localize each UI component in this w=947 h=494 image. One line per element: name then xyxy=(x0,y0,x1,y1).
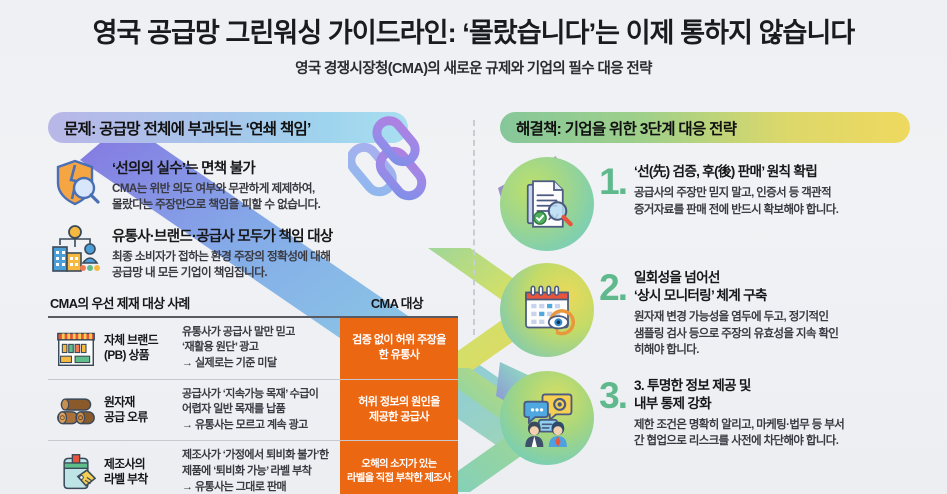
supply-chain-company-people-icon xyxy=(48,223,102,277)
table-row-description: 공급사가 ‘지속가능 목재’ 수급이 어렵자 일반 목재를 납품 → 유통사는 … xyxy=(182,380,340,441)
problem-bullet-1-body: CMA는 위반 의도 여부와 무관하게 제제하여, 몰랐다는 주장만으로 책임을… xyxy=(112,181,320,214)
page-subtitle: 영국 경쟁시장청(CMA)의 새로운 규제와 기업의 필수 대응 전략 xyxy=(0,57,947,78)
table-row-category: 자체 브랜드 (PB) 상품 xyxy=(104,318,182,379)
solution-step-3: 3. 3. 투명한 정보 제공 및 내부 통제 강화 제한 조건은 명확히 알리… xyxy=(500,371,930,465)
cracked-shield-magnifier-icon xyxy=(48,155,102,209)
solution-step-2-body: 원자재 변경 가능성을 염두에 두고, 정기적인 샘플링 검사 등으로 주장의 … xyxy=(634,309,838,359)
table-row-category: 제조사의 라벨 부착 xyxy=(104,441,182,494)
sanction-cases-table: CMA의 우선 제재 대상 사례 CMA 대상 xyxy=(48,293,458,494)
solution-panel: 해결책: 기업을 위한 3단계 대응 전략 1. ‘선(先) 검증, 후( xyxy=(500,112,930,465)
table-col-target: CMA 대상 xyxy=(338,293,456,312)
people-chat-gear-icon xyxy=(500,371,594,465)
table-row-target-tag: 허위 정보의 원인을 제공한 공급사 xyxy=(340,380,458,441)
problem-bullet-2-title: 유통사·브랜드·공급사 모두가 책임 대상 xyxy=(112,229,332,245)
problem-bullet-2-body: 최종 소비자가 접하는 환경 주장의 정확성에 대해 공급망 내 모든 기업이 … xyxy=(112,249,332,282)
table-row: 제조사의 라벨 부착 제조사가 ‘가정에서 퇴비화 불가’한 제품에 ‘퇴비화 … xyxy=(48,441,458,494)
solution-step-2-number: 2. xyxy=(594,263,626,304)
solution-step-3-title: 3. 투명한 정보 제공 및 내부 통제 강화 xyxy=(634,377,844,413)
package-label-tag-icon xyxy=(48,441,104,494)
broken-chain-link-icon xyxy=(348,112,444,220)
table-row-description: 제조사가 ‘가정에서 퇴비화 불가’한 제품에 ‘퇴비화 가능’ 라벨 부착 →… xyxy=(182,441,340,494)
solution-step-2-title: 일회성을 넘어선 ‘상시 모니터링’ 체계 구축 xyxy=(634,269,838,305)
table-col-cases: CMA의 우선 제재 대상 사례 xyxy=(50,293,338,312)
solution-panel-heading: 해결책: 기업을 위한 3단계 대응 전략 xyxy=(500,112,910,143)
solution-step-1-number: 1. xyxy=(594,157,626,198)
problem-bullet-2: 유통사·브랜드·공급사 모두가 책임 대상 최종 소비자가 접하는 환경 주장의… xyxy=(48,223,458,282)
solution-step-1-title: ‘선(先) 검증, 후(後) 판매’ 원칙 확립 xyxy=(634,163,838,181)
solution-step-1-body: 공급사의 주장만 믿지 말고, 인증서 등 객관적 증거자료를 판매 전에 반드… xyxy=(634,185,838,218)
table-row-target-tag: 검증 없이 허위 주장을 한 유통사 xyxy=(340,318,458,379)
table-row: 자체 브랜드 (PB) 상품 유통사가 공급사 말만 믿고 ‘재활용 원단’ 광… xyxy=(48,318,458,380)
table-header-row: CMA의 우선 제재 대상 사례 CMA 대상 xyxy=(48,293,458,318)
infographic-page: 영국 공급망 그린워싱 가이드라인: ‘몰랐습니다’는 이제 통하지 않습니다 … xyxy=(0,0,947,494)
solution-step-3-body: 제한 조건은 명확히 알리고, 마케팅·법무 등 부서 간 협업으로 리스크를 … xyxy=(634,417,844,450)
problem-bullet-1-title: ‘선의의 실수’는 면책 불가 xyxy=(112,161,255,177)
page-title: 영국 공급망 그린워싱 가이드라인: ‘몰랐습니다’는 이제 통하지 않습니다 xyxy=(0,18,947,50)
title-block: 영국 공급망 그린워싱 가이드라인: ‘몰랐습니다’는 이제 통하지 않습니다 … xyxy=(0,18,947,78)
dashed-vertical-divider xyxy=(473,120,475,335)
calendar-eye-monitoring-icon xyxy=(500,263,594,357)
solution-step-3-number: 3. xyxy=(594,371,626,412)
table-row-target-tag: 오해의 소지가 있는 라벨을 직접 부착한 제조사 xyxy=(340,441,458,494)
store-shelf-icon xyxy=(48,318,104,379)
table-row: 원자재 공급 오류 공급사가 ‘지속가능 목재’ 수급이 어렵자 일반 목재를 … xyxy=(48,380,458,442)
document-check-magnifier-icon xyxy=(500,157,594,251)
solution-step-1: 1. ‘선(先) 검증, 후(後) 판매’ 원칙 확립 공급사의 주장만 믿지 … xyxy=(500,157,930,251)
table-row-description: 유통사가 공급사 말만 믿고 ‘재활용 원단’ 광고 → 실제로는 기준 미달 xyxy=(182,318,340,379)
timber-logs-icon xyxy=(48,380,104,441)
solution-step-2: 2. 일회성을 넘어선 ‘상시 모니터링’ 체계 구축 원자재 변경 가능성을 … xyxy=(500,263,930,359)
table-row-category: 원자재 공급 오류 xyxy=(104,380,182,441)
